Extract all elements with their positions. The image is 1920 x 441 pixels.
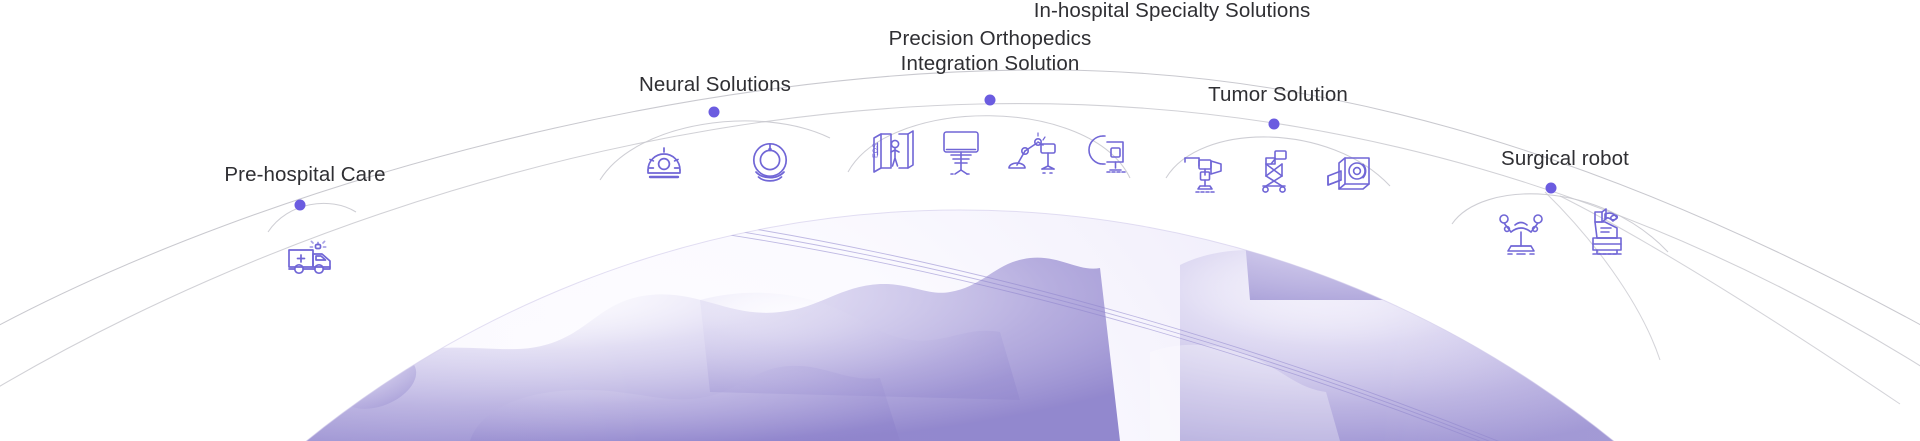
surgical-display-cart-icon[interactable] (937, 128, 985, 176)
node-dot-surgical-robot[interactable] (1546, 183, 1557, 194)
node-label-pre-hospital-care: Pre-hospital Care (224, 162, 385, 187)
neuro-navigation-icon[interactable] (641, 144, 687, 184)
connector-arc-pre-hospital (268, 203, 356, 232)
icon-set-neural-solutions (641, 140, 795, 184)
node-label-precision-orthopedics: Precision Orthopedics Integration Soluti… (889, 26, 1092, 76)
main-orbit-arc (0, 70, 1920, 330)
node-dot-neural-solutions[interactable] (709, 107, 720, 118)
interventional-stand-icon[interactable] (1253, 148, 1299, 194)
orthopedic-robot-arm-icon[interactable] (1005, 128, 1061, 176)
node-label-tumor-solution: Tumor Solution (1208, 82, 1348, 107)
icon-set-tumor-solution (1181, 148, 1375, 194)
icon-set-pre-hospital-care (286, 238, 338, 278)
icon-set-surgical-robot (1495, 206, 1635, 258)
ambulance-icon[interactable] (286, 238, 338, 278)
node-dot-pre-hospital-care[interactable] (295, 200, 306, 211)
ct-scanner-icon[interactable] (1325, 150, 1375, 194)
infographic-stage: Pre-hospital Care (0, 0, 1920, 441)
node-dot-tumor-solution[interactable] (1269, 119, 1280, 130)
eos-imaging-system-icon[interactable]: EOS (869, 128, 917, 176)
node-dot-precision-orthopedics[interactable] (985, 95, 996, 106)
icon-set-precision-orthopedics: EOS (869, 128, 1131, 176)
svg-text:EOS: EOS (872, 143, 879, 158)
node-label-surgical-robot: Surgical robot (1501, 146, 1629, 171)
radiotherapy-arm-icon[interactable] (1181, 148, 1227, 194)
node-label-in-hospital-specialty-solutions: In-hospital Specialty Solutions (1034, 0, 1311, 23)
neuro-imaging-ring-icon[interactable] (745, 140, 795, 184)
robot-console-icon[interactable] (1583, 206, 1635, 258)
dual-arm-surgical-robot-icon[interactable] (1495, 212, 1547, 258)
c-arm-imaging-icon[interactable] (1081, 128, 1131, 176)
node-label-neural-solutions: Neural Solutions (639, 72, 791, 97)
